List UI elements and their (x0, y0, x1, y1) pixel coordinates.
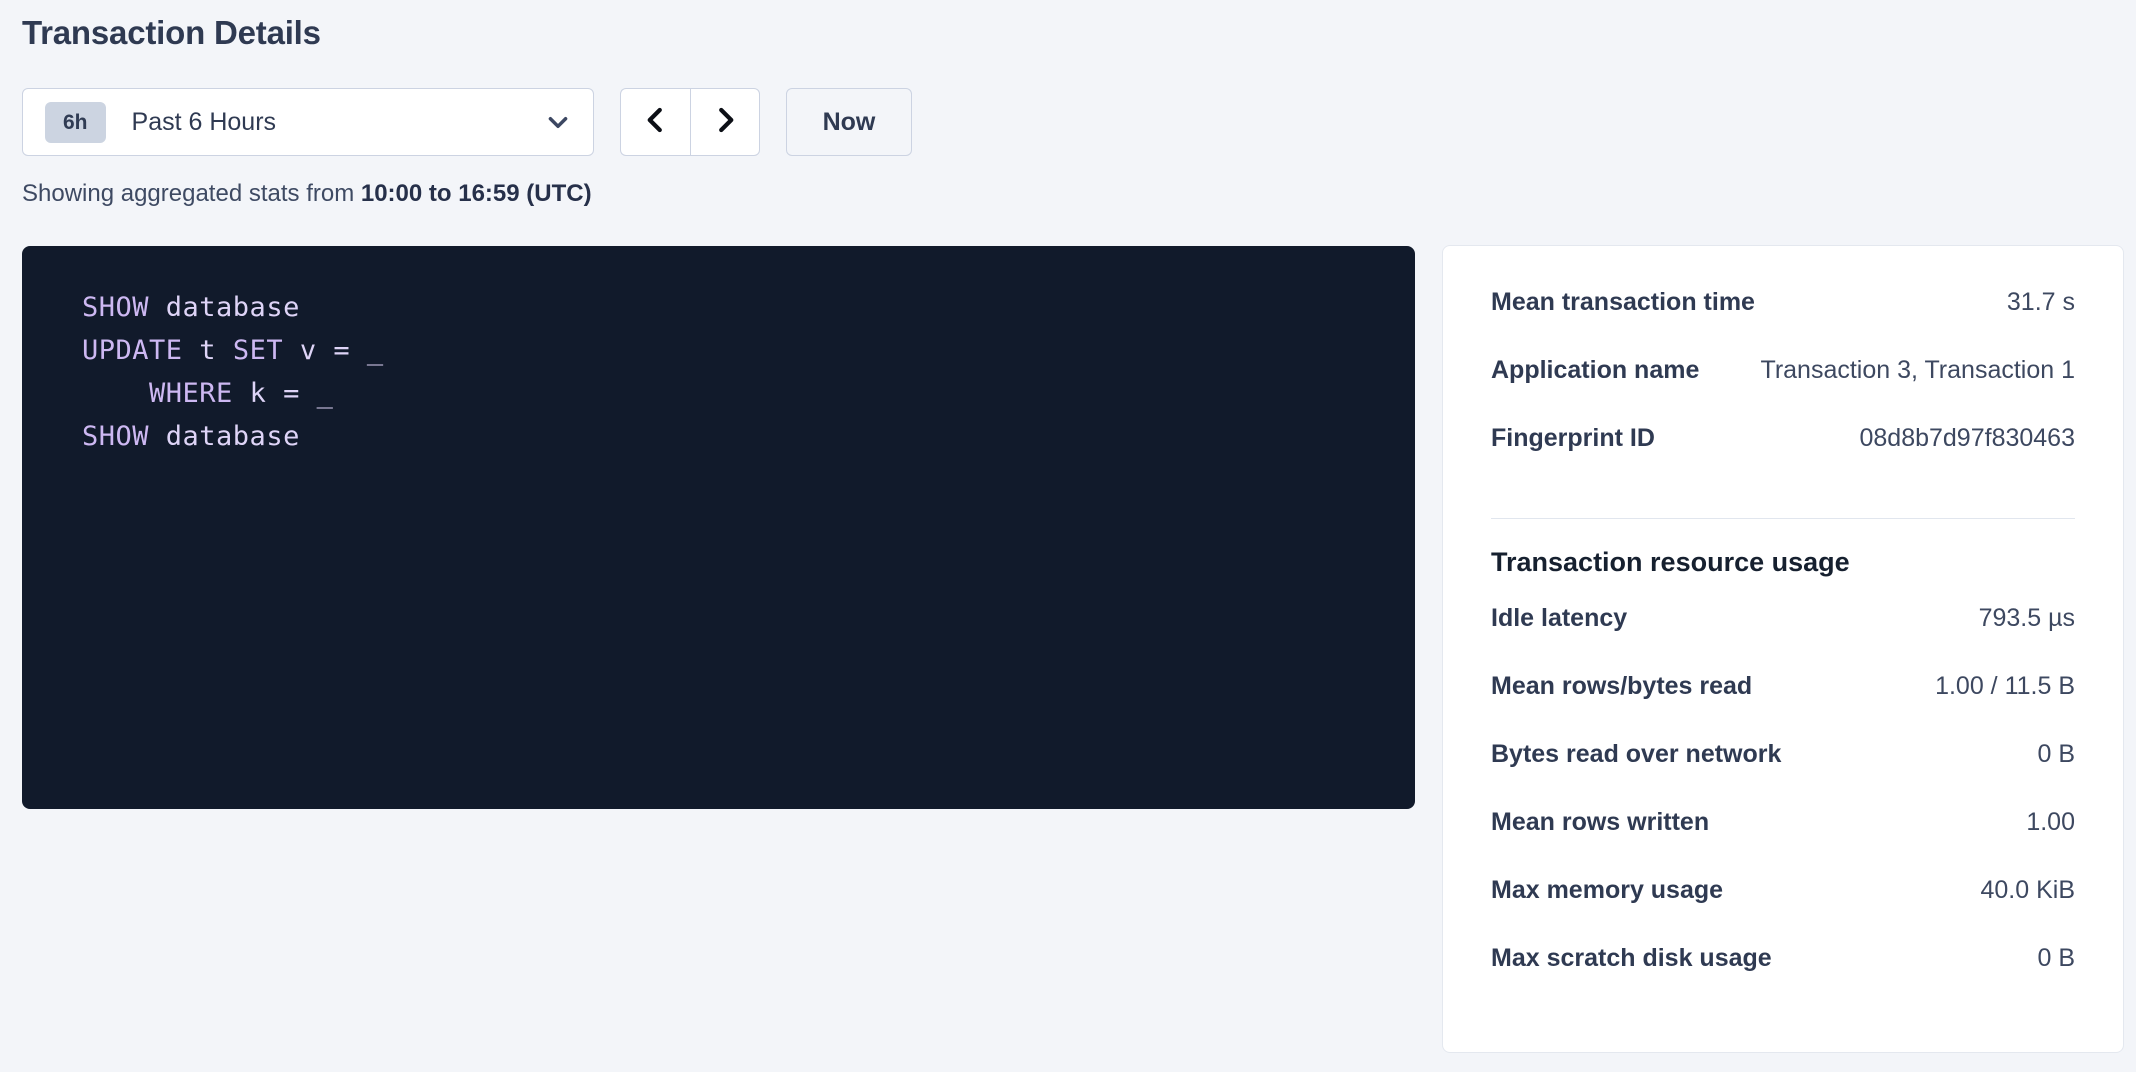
transaction-stats-card: Mean transaction time31.7 sApplication n… (1442, 245, 2124, 1053)
aggregation-range-value: 10:00 to 16:59 (UTC) (361, 180, 592, 207)
stat-row: Mean rows/bytes read1.00 / 11.5 B (1491, 672, 2075, 740)
sql-keyword: SHOW (82, 421, 166, 452)
time-range-select[interactable]: 6h Past 6 Hours (22, 88, 594, 156)
sql-code-lines: SHOW databaseUPDATE t SET v = _ WHERE k … (82, 286, 1415, 458)
page-title: Transaction Details (22, 14, 321, 52)
stat-value: 1.00 / 11.5 B (1935, 672, 2075, 701)
next-period-button[interactable] (690, 88, 760, 156)
stat-value: 40.0 KiB (1980, 876, 2075, 905)
transaction-details-page: Transaction Details 6h Past 6 Hours (0, 0, 2136, 1072)
chevron-left-icon (641, 105, 671, 140)
stat-value: Transaction 3, Transaction 1 (1760, 356, 2075, 385)
sql-code-panel[interactable]: SHOW databaseUPDATE t SET v = _ WHERE k … (22, 246, 1415, 809)
sql-identifier: k = _ (250, 378, 334, 409)
stat-value: 0 B (2037, 740, 2075, 769)
sql-code-line: UPDATE t SET v = _ (82, 329, 1415, 372)
transaction-overview-list: Mean transaction time31.7 sApplication n… (1491, 288, 2075, 492)
sql-identifier: database (166, 421, 300, 452)
sql-identifier: database (166, 292, 300, 323)
stat-row: Mean rows written1.00 (1491, 808, 2075, 876)
sql-code-line: SHOW database (82, 415, 1415, 458)
time-range-label: Past 6 Hours (132, 108, 545, 137)
sql-identifier: t (199, 335, 233, 366)
stat-value: 31.7 s (2007, 288, 2075, 317)
stat-label: Mean rows written (1491, 808, 1709, 837)
stat-row: Fingerprint ID08d8b7d97f830463 (1491, 424, 2075, 492)
stat-row: Application nameTransaction 3, Transacti… (1491, 356, 2075, 424)
resource-usage-title: Transaction resource usage (1491, 547, 2075, 578)
sql-keyword: UPDATE (82, 335, 199, 366)
stat-label: Mean transaction time (1491, 288, 1755, 317)
stat-label: Idle latency (1491, 604, 1627, 633)
stat-row: Idle latency793.5 µs (1491, 604, 2075, 672)
stat-label: Mean rows/bytes read (1491, 672, 1752, 701)
stat-value: 08d8b7d97f830463 (1859, 424, 2075, 453)
stat-label: Bytes read over network (1491, 740, 1781, 769)
stat-label: Max memory usage (1491, 876, 1723, 905)
sql-keyword: WHERE (82, 378, 250, 409)
chevron-right-icon (710, 105, 740, 140)
stat-value: 0 B (2037, 944, 2075, 973)
stat-value: 1.00 (2026, 808, 2075, 837)
stats-divider (1491, 518, 2075, 519)
sql-code-line: WHERE k = _ (82, 372, 1415, 415)
now-button[interactable]: Now (786, 88, 912, 156)
sql-identifier: v = _ (300, 335, 384, 366)
sql-code-line: SHOW database (82, 286, 1415, 329)
stat-row: Mean transaction time31.7 s (1491, 288, 2075, 356)
aggregation-range-prefix: Showing aggregated stats from (22, 180, 361, 207)
time-range-toolbar: 6h Past 6 Hours (22, 88, 912, 156)
transaction-resource-list: Idle latency793.5 µsMean rows/bytes read… (1491, 604, 2075, 1012)
stat-value: 793.5 µs (1979, 604, 2075, 633)
stat-label: Max scratch disk usage (1491, 944, 1772, 973)
stat-row: Max memory usage40.0 KiB (1491, 876, 2075, 944)
time-stepper (620, 88, 760, 156)
time-range-badge: 6h (45, 102, 106, 143)
sql-keyword: SET (233, 335, 300, 366)
sql-keyword: SHOW (82, 292, 166, 323)
chevron-down-icon (545, 109, 571, 135)
stat-label: Fingerprint ID (1491, 424, 1655, 453)
previous-period-button[interactable] (620, 88, 690, 156)
stat-label: Application name (1491, 356, 1699, 385)
stat-row: Max scratch disk usage0 B (1491, 944, 2075, 1012)
stat-row: Bytes read over network0 B (1491, 740, 2075, 808)
aggregation-range-text: Showing aggregated stats from 10:00 to 1… (22, 180, 592, 208)
